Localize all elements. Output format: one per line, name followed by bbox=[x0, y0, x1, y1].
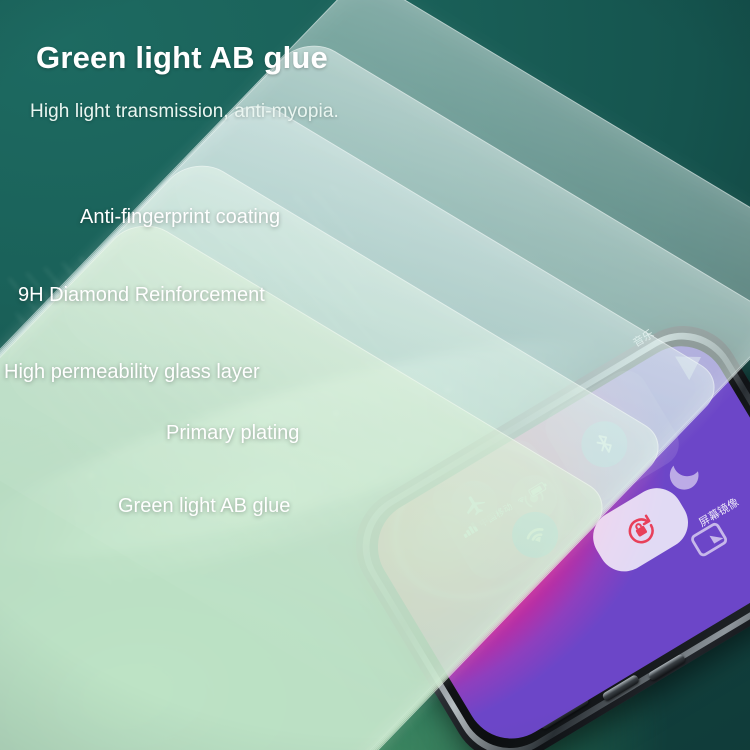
page-title: Green light AB glue bbox=[36, 40, 328, 76]
product-feature-graphic: 中国移动 bbox=[0, 0, 750, 750]
layer-label-primary-plating: Primary plating bbox=[166, 422, 299, 445]
layer-label-anti-fingerprint: Anti-fingerprint coating bbox=[80, 206, 280, 229]
layer-label-high-permeability: High permeability glass layer bbox=[4, 361, 260, 384]
layer-label-9h-diamond: 9H Diamond Reinforcement bbox=[18, 284, 265, 307]
layer-label-green-light-ab-glue: Green light AB glue bbox=[118, 495, 290, 518]
page-subtitle: High light transmission, anti-myopia. bbox=[30, 101, 339, 123]
